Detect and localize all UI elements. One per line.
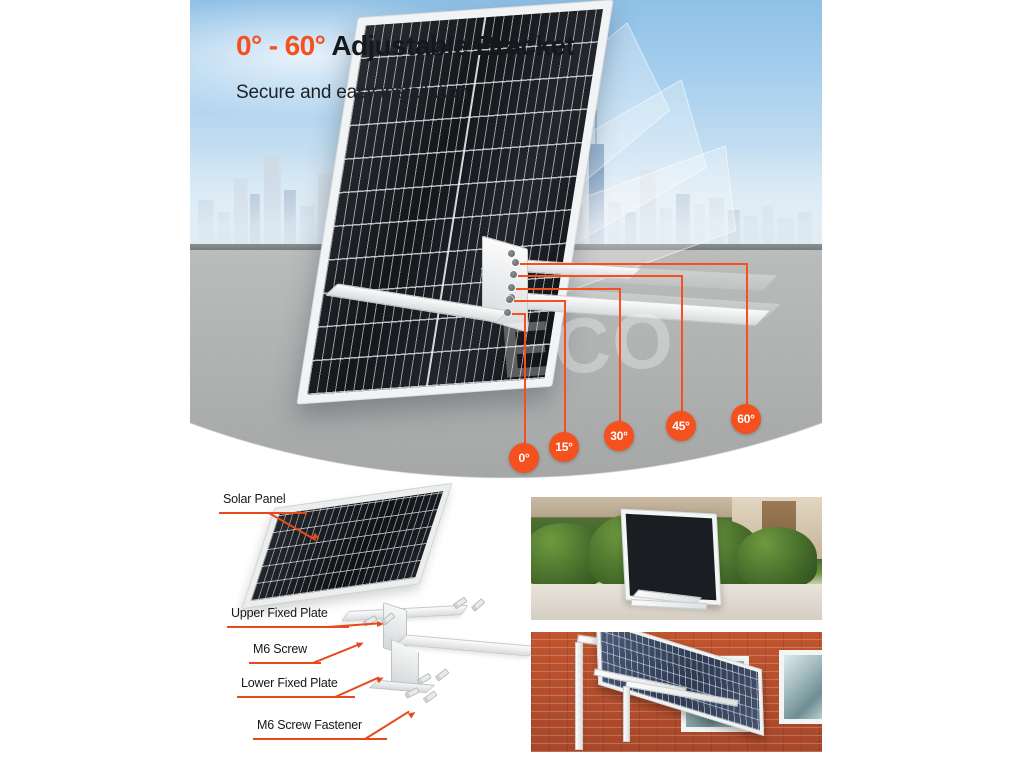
garden-panel-cells	[626, 514, 717, 600]
mount-hole	[508, 284, 515, 291]
callout-label: Solar Panel	[223, 492, 285, 506]
title-rest: Adjustable Bracket	[325, 30, 574, 61]
angle-badge-15: 15°	[549, 432, 579, 462]
mount-hole	[504, 309, 511, 316]
m6-screw	[471, 598, 485, 611]
building-window	[779, 650, 822, 724]
angle-leader-line	[564, 300, 566, 434]
hedge-bush	[737, 527, 817, 587]
mount-hole	[512, 259, 519, 266]
angle-badge-45: 45°	[666, 411, 696, 441]
pivot-bolt	[508, 250, 515, 257]
wall-mount-vertical-post	[575, 642, 583, 750]
photo-garden-installation	[531, 497, 822, 620]
hero-image-clip: ECO 0° 15° 30° 45° 60°	[190, 0, 822, 480]
mount-hole	[506, 296, 513, 303]
hero-section: ECO 0° 15° 30° 45° 60° 0° - 60° Adjustab…	[190, 0, 822, 480]
page-title: 0° - 60° Adjustable Bracket	[236, 30, 574, 62]
angle-range-text: 0° - 60°	[236, 30, 325, 61]
callout-label: Upper Fixed Plate	[231, 606, 328, 620]
angle-leader-line	[514, 300, 566, 302]
diagram-panel-cells	[251, 491, 444, 601]
angle-leader-line	[681, 275, 683, 427]
exploded-parts-diagram: Solar Panel Upper Fixed Plate M6 Screw L…	[205, 490, 515, 752]
callout-label: Lower Fixed Plate	[241, 676, 338, 690]
angle-leader-line	[524, 313, 526, 445]
angle-leader-line	[619, 288, 621, 430]
angle-badge-60: 60°	[731, 404, 761, 434]
angle-leader-line	[520, 263, 748, 265]
photo-wall-installation	[531, 632, 822, 752]
callout-label: M6 Screw Fastener	[257, 718, 362, 732]
m6-screw-fastener	[435, 668, 449, 681]
wall-solar-panel	[596, 632, 764, 736]
wall-bracket-strut	[623, 686, 630, 742]
angle-badge-0: 0°	[509, 443, 539, 473]
angle-badge-30: 30°	[604, 421, 634, 451]
angle-leader-line	[518, 275, 683, 277]
page-subtitle: Secure and easy installation	[236, 82, 468, 104]
callout-label: M6 Screw	[253, 642, 307, 656]
angle-leader-line	[516, 288, 621, 290]
mount-hole	[510, 271, 517, 278]
